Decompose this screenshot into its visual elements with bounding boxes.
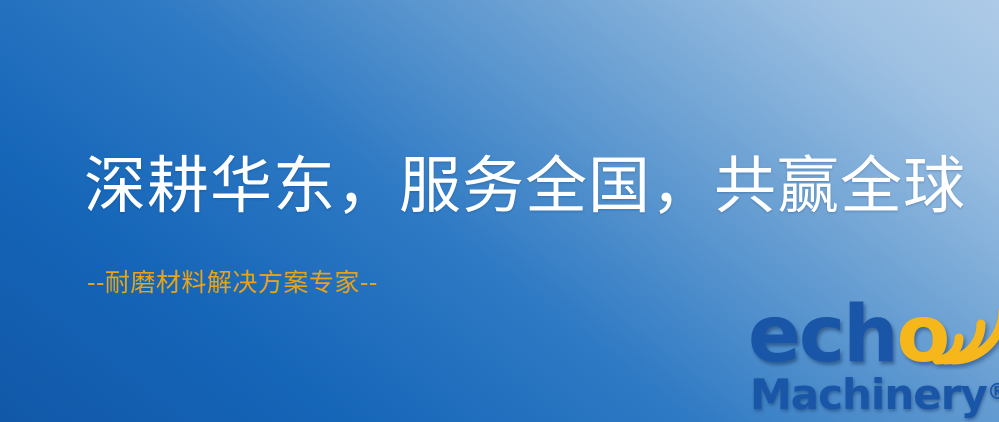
- promo-banner: 深耕华东，服务全国，共赢全球 --耐磨材料解决方案专家-- echo Machi…: [0, 0, 999, 422]
- logo-tagline-text: Machinery: [750, 370, 987, 419]
- logo-tagline: Machinery®: [750, 370, 999, 418]
- registered-trademark-icon: ®: [987, 380, 999, 405]
- logo-wordmark-ech: ech: [748, 290, 897, 380]
- echo-machinery-logo: echo Machinery®: [748, 296, 999, 422]
- banner-subtitle: --耐磨材料解决方案专家--: [87, 267, 378, 299]
- banner-headline: 深耕华东，服务全国，共赢全球: [84, 150, 966, 222]
- logo-wordmark: echo: [748, 296, 948, 374]
- signal-waves-icon: [931, 294, 999, 370]
